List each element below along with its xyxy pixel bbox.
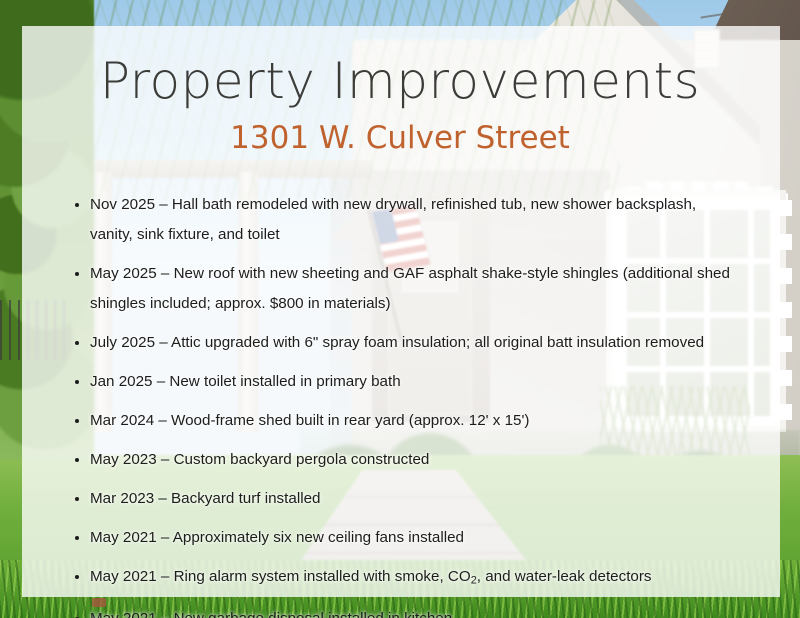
list-item: Jan 2025 – New toilet installed in prima… [74, 367, 734, 397]
list-item: May 2021 – Approximately six new ceiling… [74, 523, 734, 553]
slide: Property Improvements 1301 W. Culver Str… [0, 0, 800, 618]
list-item: July 2025 – Attic upgraded with 6" spray… [74, 328, 734, 358]
page-subtitle: 1301 W. Culver Street [0, 120, 800, 156]
list-item: May 2025 – New roof with new sheeting an… [74, 259, 734, 319]
list-item: May 2023 – Custom backyard pergola const… [74, 445, 734, 475]
list-item: May 2021 – New garbage disposal installe… [74, 604, 734, 618]
page-title: Property Improvements [0, 52, 800, 110]
slide-content: Property Improvements 1301 W. Culver Str… [0, 0, 800, 618]
list-item: May 2021 – Ring alarm system installed w… [74, 562, 734, 595]
improvements-list: Nov 2025 – Hall bath remodeled with new … [74, 190, 734, 618]
list-item: Mar 2024 – Wood-frame shed built in rear… [74, 406, 734, 436]
list-item: Mar 2023 – Backyard turf installed [74, 484, 734, 514]
list-item: Nov 2025 – Hall bath remodeled with new … [74, 190, 734, 250]
